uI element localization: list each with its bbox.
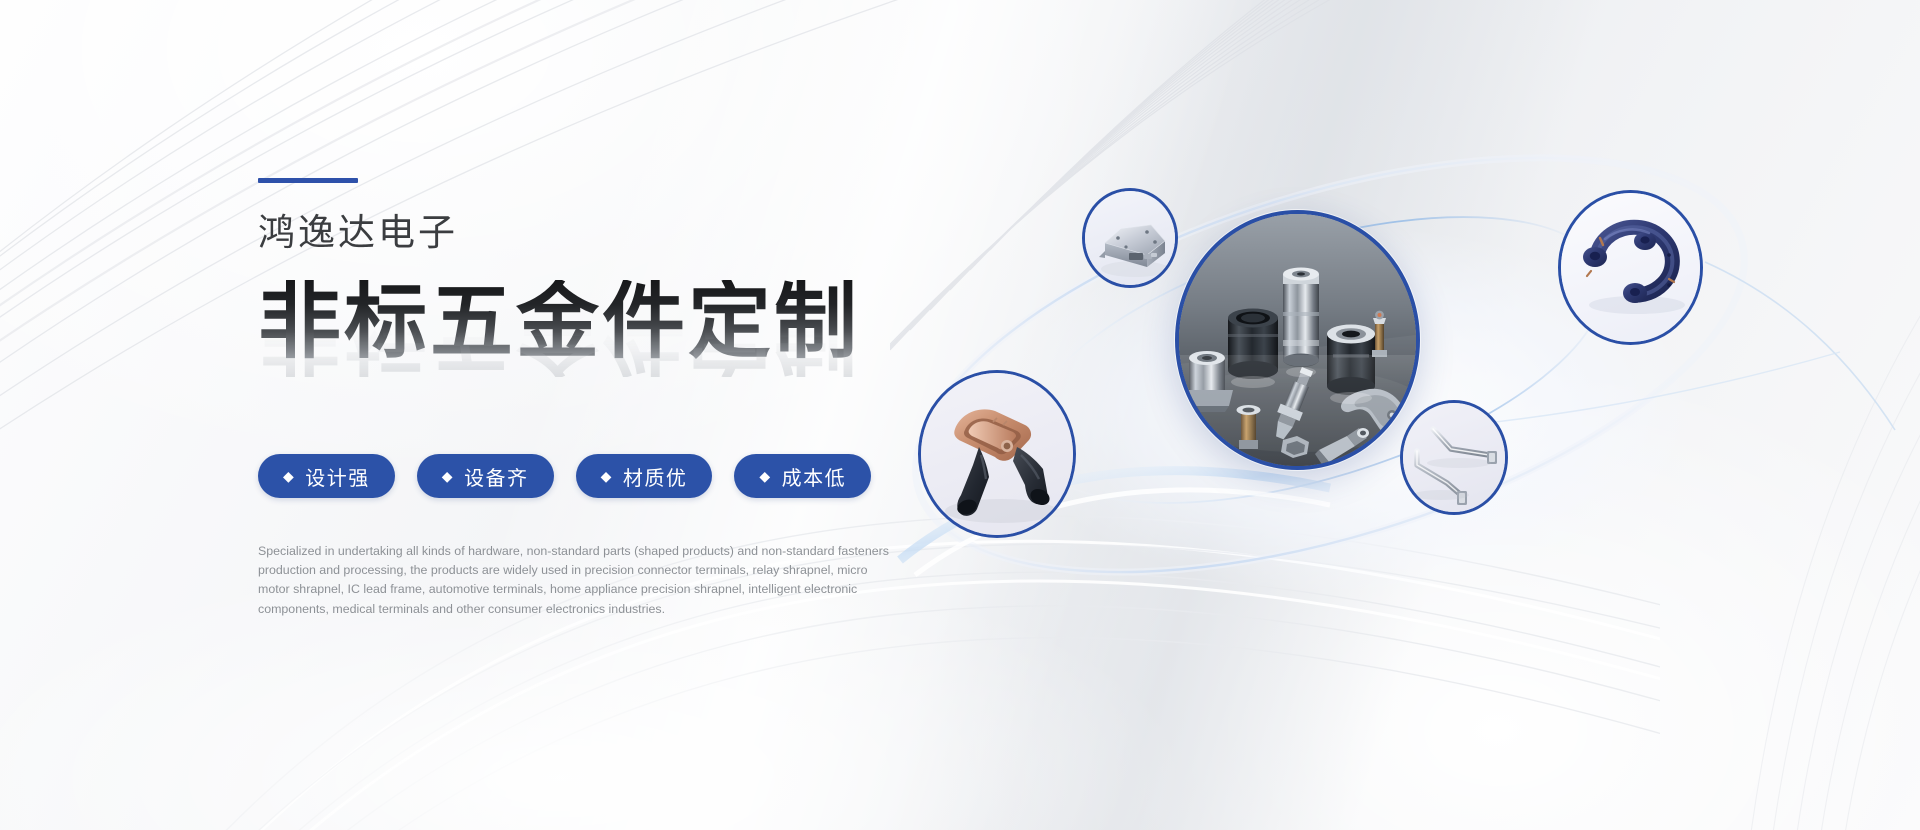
brand-name: 鸿逸达电子: [258, 215, 1018, 252]
description-paragraph: Specialized in undertaking all kinds of …: [258, 542, 898, 619]
feature-pill-list: ◆ 设计强 ◆ 设备齐 ◆ 材质优 ◆ 成本低: [258, 454, 1018, 498]
hero-banner: 鸿逸达电子 非标五金件定制 非标五金件定制 ◆ 设计强 ◆ 设备齐 ◆ 材质优 …: [0, 0, 1920, 830]
accent-rule: [258, 178, 358, 183]
machined-metal-parts-photo: [1179, 214, 1416, 466]
feature-pill-material[interactable]: ◆ 材质优: [576, 454, 713, 498]
product-circle-c-retaining-ring[interactable]: [1558, 190, 1703, 345]
feature-pill-design[interactable]: ◆ 设计强: [258, 454, 395, 498]
diamond-icon: ◆: [283, 469, 295, 483]
hero-text-column: 鸿逸达电子 非标五金件定制 非标五金件定制 ◆ 设计强 ◆ 设备齐 ◆ 材质优 …: [258, 178, 1018, 619]
feature-pill-label: 材质优: [623, 462, 688, 491]
feature-pill-equipment[interactable]: ◆ 设备齐: [417, 454, 554, 498]
diamond-icon: ◆: [601, 469, 613, 483]
feature-pill-label: 设计强: [305, 462, 370, 491]
shield-can-photo: [1085, 191, 1175, 285]
product-visual-cluster: [860, 0, 1920, 830]
product-circle-shield-can[interactable]: [1082, 188, 1178, 288]
diamond-icon: ◆: [759, 469, 771, 483]
page-title: 非标五金件定制: [258, 280, 1018, 363]
blue-c-retaining-ring-photo: [1561, 193, 1700, 342]
diamond-icon: ◆: [442, 469, 454, 483]
bent-terminal-pins-photo: [1403, 403, 1505, 512]
feature-pill-label: 成本低: [782, 462, 847, 491]
product-circle-terminal-pins[interactable]: [1400, 400, 1508, 515]
feature-pill-label: 设备齐: [464, 462, 529, 491]
feature-pill-cost[interactable]: ◆ 成本低: [734, 454, 871, 498]
headline-block: 非标五金件定制 非标五金件定制: [258, 280, 1018, 400]
product-circle-machined-parts[interactable]: [1175, 210, 1420, 470]
